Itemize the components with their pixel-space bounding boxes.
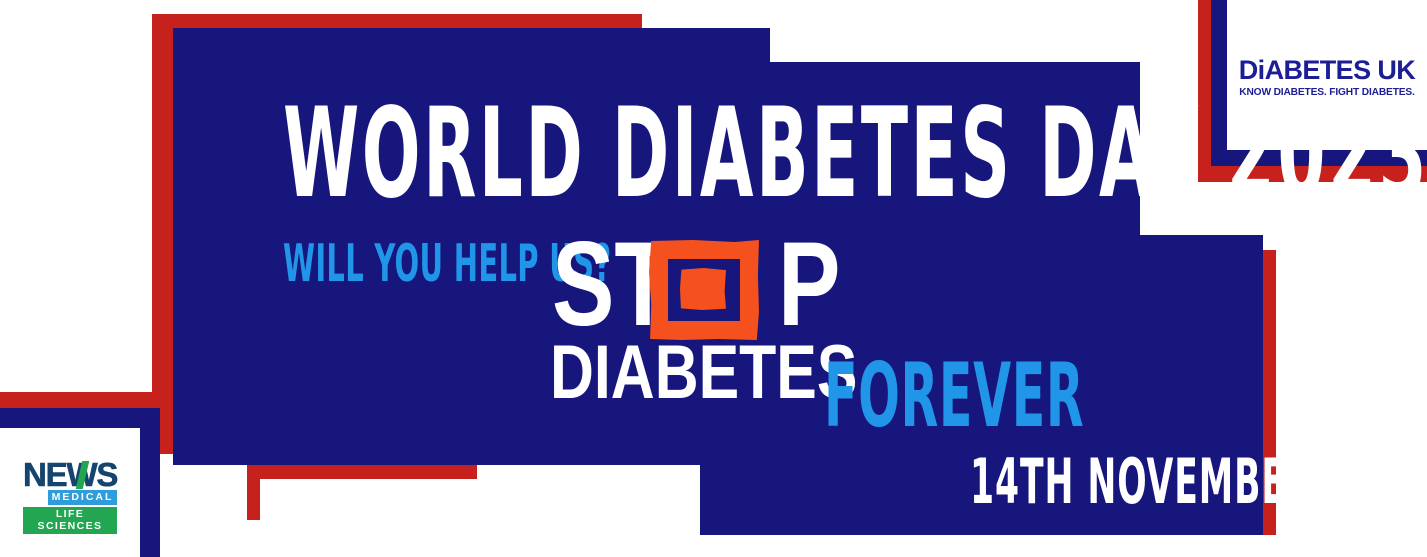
stop-word-diabetes: DIABETES — [550, 338, 857, 408]
news-medical-bar-life-sciences: LIFE SCIENCES — [23, 507, 117, 534]
red-accent-bar-bottom-left — [247, 465, 477, 479]
news-medical-logo-card: NEWS MEDICAL LIFE SCIENCES — [0, 428, 140, 557]
navy-frame-news-medical-right — [140, 408, 160, 557]
forever-text: FOREVER — [824, 352, 1084, 440]
news-medical-word-news: NEWS — [23, 456, 117, 493]
diabetes-uk-wordmark: DiABETES UK — [1239, 57, 1415, 84]
event-date: 14TH NOVEMBER — [970, 451, 1314, 513]
red-frame-news-medical-top — [0, 392, 160, 408]
brush-square-fill-icon — [680, 268, 726, 310]
page-title: WORLD DIABETES DAY 2023 — [283, 92, 1427, 216]
stop-word-row: ST P — [550, 240, 820, 340]
navy-frame-news-medical-top — [0, 408, 160, 428]
world-diabetes-day-banner: DiABETES UK KNOW DIABETES. FIGHT DIABETE… — [0, 0, 1427, 557]
stop-word-p: P — [778, 234, 840, 334]
news-medical-logo: NEWS MEDICAL LIFE SCIENCES — [23, 460, 117, 534]
orange-brush-square-icon — [649, 240, 759, 340]
stop-diabetes-logo: ST P DIABETES — [550, 240, 820, 410]
news-medical-wordmark: NEWS — [23, 460, 117, 490]
